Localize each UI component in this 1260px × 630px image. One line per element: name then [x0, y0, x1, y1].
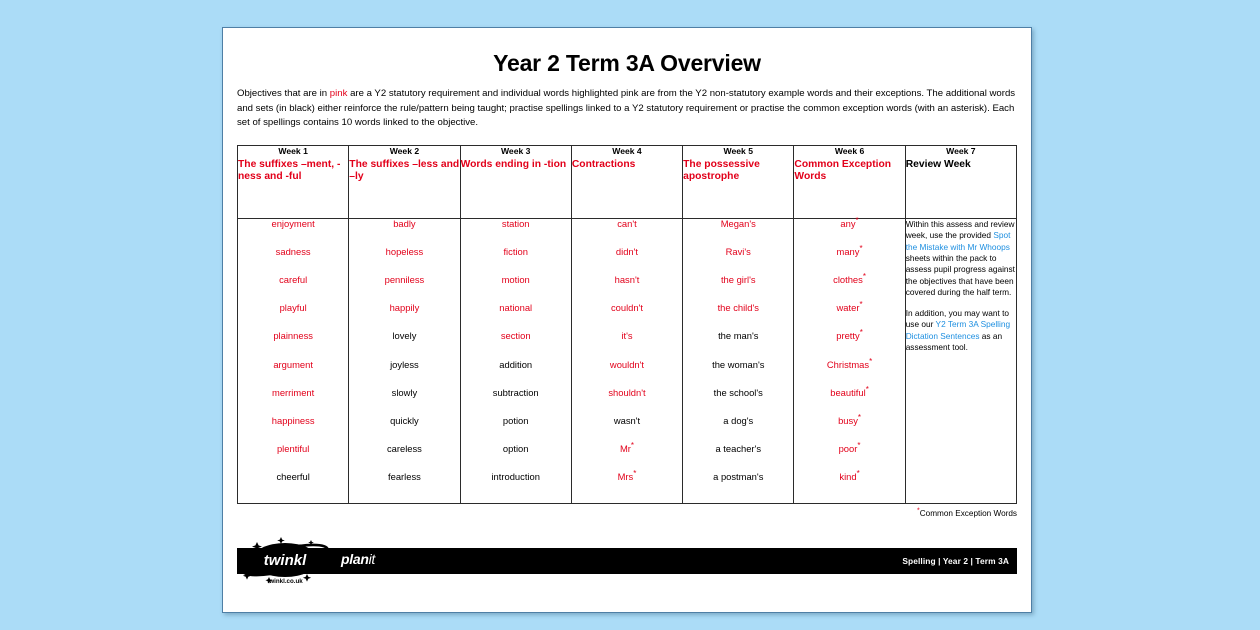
word-item: argument	[238, 360, 348, 388]
week-objective-3: Words ending in -tion	[461, 159, 571, 172]
asterisk-icon: *	[631, 441, 634, 450]
word-item: Ravi's	[683, 247, 793, 275]
twinkl-logo: twinkl twinkl.co.uk planit	[237, 534, 397, 586]
word-item: quickly	[349, 416, 459, 444]
word-item: kind*	[794, 472, 904, 500]
word-item: the man's	[683, 331, 793, 359]
week-objective-5: The possessive apostrophe	[683, 159, 793, 184]
intro-text-after: are a Y2 statutory requirement and indiv…	[237, 88, 1015, 128]
asterisk-icon: *	[857, 441, 860, 450]
table-header: Week 1 The suffixes –ment, -ness and -fu…	[238, 145, 1017, 218]
word-item: the school's	[683, 388, 793, 416]
word-item: Mrs*	[572, 472, 682, 500]
word-list: stationfictionmotionnationalsectionaddit…	[461, 219, 571, 501]
review-paragraph-1: Within this assess and review week, use …	[906, 219, 1016, 299]
week-objective-2: The suffixes –less and –ly	[349, 159, 459, 184]
word-item: a postman's	[683, 472, 793, 500]
planit-it: it	[369, 551, 375, 567]
header-cell-week-3: Week 3 Words ending in -tion	[460, 145, 571, 218]
word-item: careless	[349, 444, 459, 472]
word-item: a dog's	[683, 416, 793, 444]
word-item: the woman's	[683, 360, 793, 388]
word-item: playful	[238, 303, 348, 331]
asterisk-icon: *	[859, 244, 862, 253]
intro-text-before: Objectives that are in	[237, 88, 330, 99]
word-item: addition	[461, 360, 571, 388]
word-item: didn't	[572, 247, 682, 275]
word-item: joyless	[349, 360, 459, 388]
header-cell-week-1: Week 1 The suffixes –ment, -ness and -fu…	[238, 145, 349, 218]
intro-paragraph: Objectives that are in pink are a Y2 sta…	[237, 87, 1017, 131]
word-column-week-4: can'tdidn'thasn'tcouldn'tit'swouldn'tsho…	[571, 218, 682, 503]
footnote-label: Common Exception Words	[920, 509, 1017, 518]
asterisk-icon: *	[860, 328, 863, 337]
word-item: introduction	[461, 472, 571, 500]
asterisk-icon: *	[869, 357, 872, 366]
week-objective-7: Review Week	[906, 159, 1016, 172]
word-item: merriment	[238, 388, 348, 416]
week-label-2: Week 2	[349, 146, 459, 156]
word-item: national	[461, 303, 571, 331]
word-item: hasn't	[572, 275, 682, 303]
word-item: the child's	[683, 303, 793, 331]
word-item: plainness	[238, 331, 348, 359]
word-item: slowly	[349, 388, 459, 416]
word-item: poor*	[794, 444, 904, 472]
table-header-row: Week 1 The suffixes –ment, -ness and -fu…	[238, 145, 1017, 218]
word-item: section	[461, 331, 571, 359]
word-item: many*	[794, 247, 904, 275]
footer-meta: Spelling | Year 2 | Term 3A	[902, 556, 1017, 566]
header-cell-week-7: Week 7 Review Week	[905, 145, 1016, 218]
word-item: plentiful	[238, 444, 348, 472]
page-title: Year 2 Term 3A Overview	[223, 50, 1031, 77]
word-list: any*many*clothes*water*pretty*Christmas*…	[794, 219, 904, 501]
week-label-7: Week 7	[906, 146, 1016, 156]
footnote: *Common Exception Words	[237, 509, 1017, 518]
word-item: option	[461, 444, 571, 472]
table-row: enjoymentsadnesscarefulplayfulplainnessa…	[238, 218, 1017, 503]
word-item: the girl's	[683, 275, 793, 303]
word-item: potion	[461, 416, 571, 444]
word-item: happiness	[238, 416, 348, 444]
word-item: water*	[794, 303, 904, 331]
week-label-3: Week 3	[461, 146, 571, 156]
word-item: enjoyment	[238, 219, 348, 247]
asterisk-icon: *	[858, 413, 861, 422]
word-column-week-6: any*many*clothes*water*pretty*Christmas*…	[794, 218, 905, 503]
word-item: a teacher's	[683, 444, 793, 472]
word-item: busy*	[794, 416, 904, 444]
word-item: shouldn't	[572, 388, 682, 416]
twinkl-url: twinkl.co.uk	[267, 578, 303, 585]
overview-table: Week 1 The suffixes –ment, -ness and -fu…	[237, 145, 1017, 504]
word-item: happily	[349, 303, 459, 331]
week-objective-6: Common Exception Words	[794, 159, 904, 184]
word-item: clothes*	[794, 275, 904, 303]
planit-plan: plan	[341, 551, 369, 567]
document-page: Year 2 Term 3A Overview Objectives that …	[222, 27, 1032, 613]
asterisk-icon: *	[859, 300, 862, 309]
week-label-1: Week 1	[238, 146, 348, 156]
week-label-4: Week 4	[572, 146, 682, 156]
week-objective-1: The suffixes –ment, -ness and -ful	[238, 159, 348, 184]
word-item: sadness	[238, 247, 348, 275]
asterisk-icon: *	[866, 385, 869, 394]
word-item: it's	[572, 331, 682, 359]
word-list: can'tdidn'thasn'tcouldn'tit'swouldn'tsho…	[572, 219, 682, 501]
word-item: beautiful*	[794, 388, 904, 416]
asterisk-icon: *	[856, 216, 859, 225]
word-item: careful	[238, 275, 348, 303]
word-item: cheerful	[238, 472, 348, 500]
word-item: station	[461, 219, 571, 247]
review-paragraph-2: In addition, you may want to use our Y2 …	[906, 308, 1016, 354]
word-item: couldn't	[572, 303, 682, 331]
overview-table-wrapper: Week 1 The suffixes –ment, -ness and -fu…	[237, 145, 1017, 504]
word-list: Megan'sRavi'sthe girl'sthe child'sthe ma…	[683, 219, 793, 501]
word-column-week-1: enjoymentsadnesscarefulplayfulplainnessa…	[238, 218, 349, 503]
word-item: lovely	[349, 331, 459, 359]
word-item: Christmas*	[794, 360, 904, 388]
header-cell-week-6: Week 6 Common Exception Words	[794, 145, 905, 218]
word-item: badly	[349, 219, 459, 247]
word-column-week-2: badlyhopelesspennilesshappilylovelyjoyle…	[349, 218, 460, 503]
review-p1-after: sheets within the pack to assess pupil p…	[906, 253, 1015, 297]
asterisk-icon: *	[863, 272, 866, 281]
week-objective-4: Contractions	[572, 159, 682, 172]
word-item: subtraction	[461, 388, 571, 416]
word-item: motion	[461, 275, 571, 303]
word-item: Mr*	[572, 444, 682, 472]
table-body: enjoymentsadnesscarefulplayfulplainnessa…	[238, 218, 1017, 503]
word-column-week-5: Megan'sRavi'sthe girl'sthe child'sthe ma…	[683, 218, 794, 503]
asterisk-icon: *	[633, 469, 636, 478]
word-item: any*	[794, 219, 904, 247]
header-cell-week-2: Week 2 The suffixes –less and –ly	[349, 145, 460, 218]
word-item: Megan's	[683, 219, 793, 247]
word-item: fearless	[349, 472, 459, 500]
asterisk-icon: *	[857, 469, 860, 478]
word-item: wasn't	[572, 416, 682, 444]
review-week-cell: Within this assess and review week, use …	[905, 218, 1016, 503]
word-list: badlyhopelesspennilesshappilylovelyjoyle…	[349, 219, 459, 501]
intro-pink-keyword: pink	[330, 88, 348, 99]
word-item: hopeless	[349, 247, 459, 275]
header-cell-week-4: Week 4 Contractions	[571, 145, 682, 218]
word-item: wouldn't	[572, 360, 682, 388]
word-item: penniless	[349, 275, 459, 303]
word-list: enjoymentsadnesscarefulplayfulplainnessa…	[238, 219, 348, 501]
header-cell-week-5: Week 5 The possessive apostrophe	[683, 145, 794, 218]
word-column-week-3: stationfictionmotionnationalsectionaddit…	[460, 218, 571, 503]
word-item: can't	[572, 219, 682, 247]
week-label-5: Week 5	[683, 146, 793, 156]
word-item: fiction	[461, 247, 571, 275]
planit-wordmark: planit	[341, 551, 375, 567]
twinkl-wordmark: twinkl	[264, 552, 307, 569]
word-item: pretty*	[794, 331, 904, 359]
week-label-6: Week 6	[794, 146, 904, 156]
